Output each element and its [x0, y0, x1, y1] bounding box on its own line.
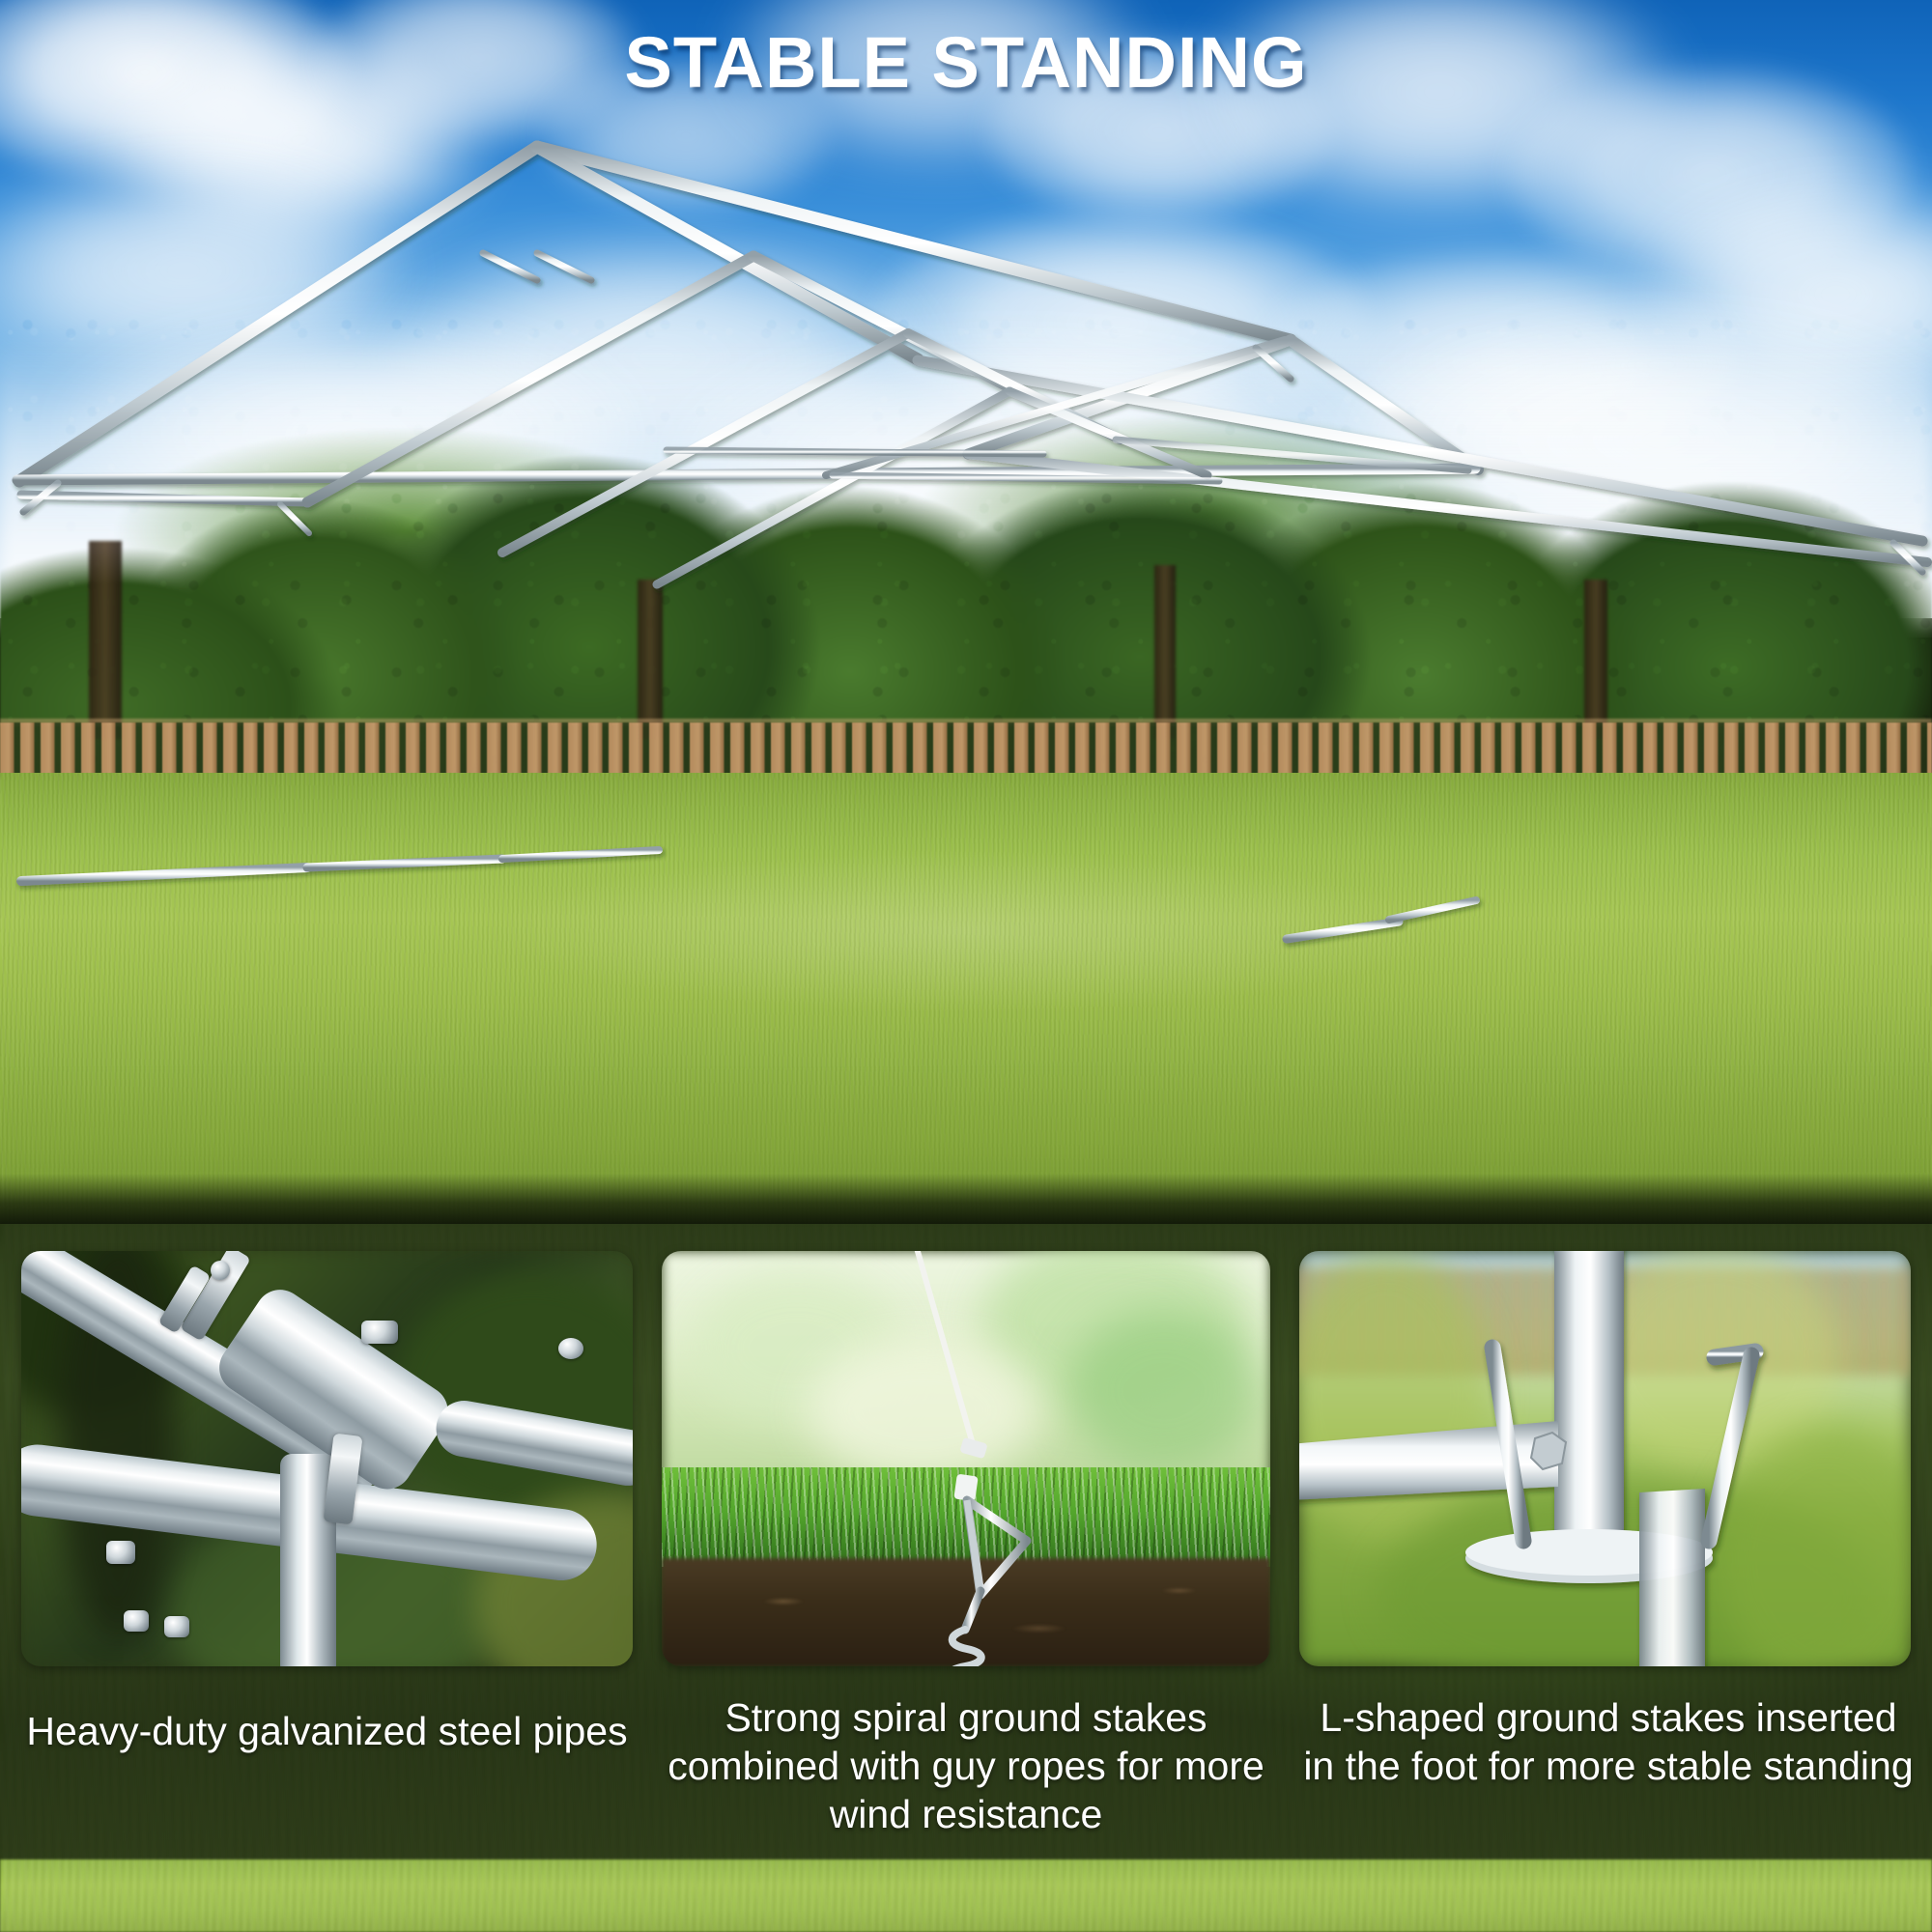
bolt	[124, 1610, 149, 1632]
bolt	[106, 1541, 135, 1564]
steel-canopy-frame	[0, 0, 1932, 1227]
feature-caption-3: L-shaped ground stakes inserted in the f…	[1299, 1693, 1918, 1790]
bolt	[211, 1261, 230, 1280]
hero-photo: STABLE STANDING	[0, 0, 1932, 1227]
feature-image-2	[662, 1251, 1270, 1666]
feature-caption-2: Strong spiral ground stakes combined wit…	[652, 1693, 1280, 1838]
features-section: Heavy-duty galvanized steel pipes Strong…	[0, 1224, 1932, 1932]
page-title: STABLE STANDING	[0, 21, 1932, 103]
bolt	[164, 1616, 189, 1637]
bolt	[361, 1321, 398, 1344]
feature-caption-1: Heavy-duty galvanized steel pipes	[21, 1707, 633, 1755]
hero-bottom-shade	[0, 1174, 1932, 1227]
bolt	[558, 1338, 583, 1359]
bottom-grass-strip-texture	[0, 1860, 1932, 1932]
feature-image-1	[21, 1251, 633, 1666]
feature-image-3	[1299, 1251, 1911, 1666]
product-feature-image: STABLE STANDING	[0, 0, 1932, 1932]
spiral-ground-stake	[662, 1251, 1270, 1666]
foot-plate-and-l-stakes	[1299, 1251, 1911, 1666]
